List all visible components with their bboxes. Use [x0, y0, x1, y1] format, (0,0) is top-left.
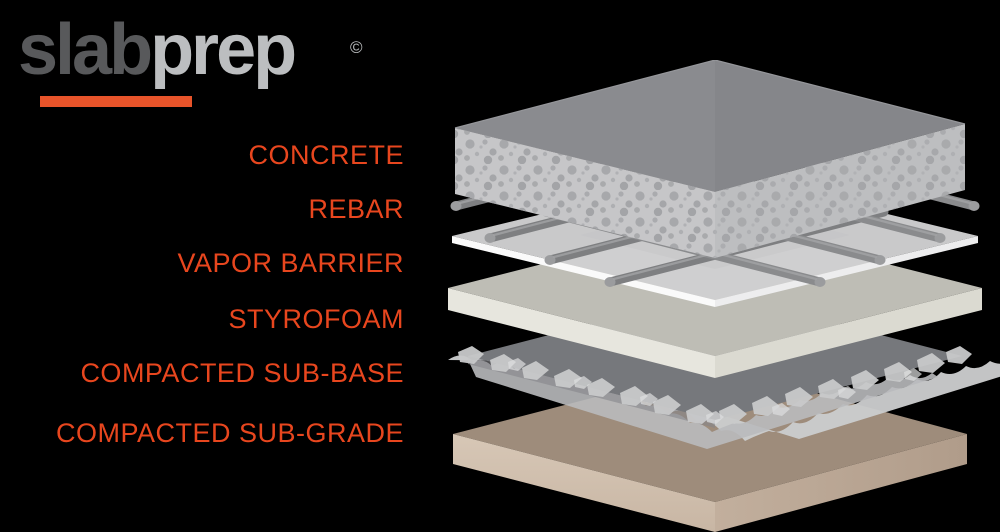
copyright-icon: ©: [350, 38, 363, 58]
logo-word-slab: slab: [18, 10, 150, 90]
layer-label-rebar: REBAR: [308, 196, 404, 223]
layer-label-styrofoam: STYROFOAM: [228, 306, 404, 333]
slab-assembly-diagram: slabprep © CONCRETE REBAR VAPOR BARRIER …: [0, 0, 1000, 532]
exploded-layer-stack: [430, 60, 1000, 532]
logo-word-prep: prep: [150, 10, 294, 90]
layer-label-concrete: CONCRETE: [248, 142, 404, 169]
slabprep-logo: slabprep ©: [18, 14, 378, 104]
layer-label-compacted-sub-base: COMPACTED SUB-BASE: [80, 360, 404, 387]
layer-label-compacted-sub-grade: COMPACTED SUB-GRADE: [56, 420, 404, 447]
layer-label-vapor-barrier: VAPOR BARRIER: [177, 250, 404, 277]
logo-wordmark: slabprep: [18, 14, 294, 86]
logo-underline-rule: [40, 96, 192, 107]
